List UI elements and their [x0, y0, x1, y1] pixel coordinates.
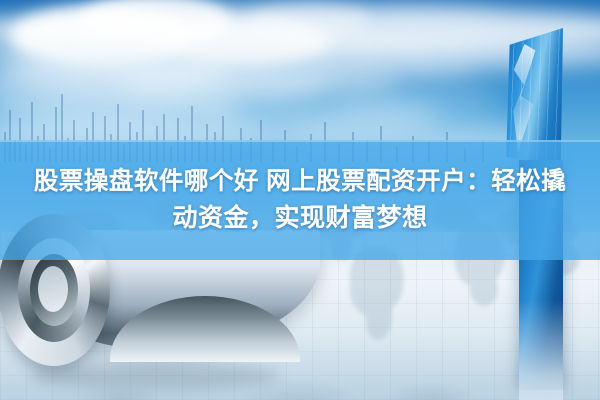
mountain-haze	[0, 330, 600, 400]
scroll-roll-core	[38, 266, 68, 312]
headline-line-2: 动资金，实现财富梦想	[172, 203, 427, 234]
banner-image: 股票操盘软件哪个好 网上股票配资开户：轻松撬 动资金，实现财富梦想	[0, 0, 600, 400]
headline-block: 股票操盘软件哪个好 网上股票配资开户：轻松撬 动资金，实现财富梦想	[0, 140, 600, 260]
glass-tower-fade	[519, 300, 563, 400]
headline-line-1: 股票操盘软件哪个好 网上股票配资开户：轻松撬	[34, 167, 566, 197]
